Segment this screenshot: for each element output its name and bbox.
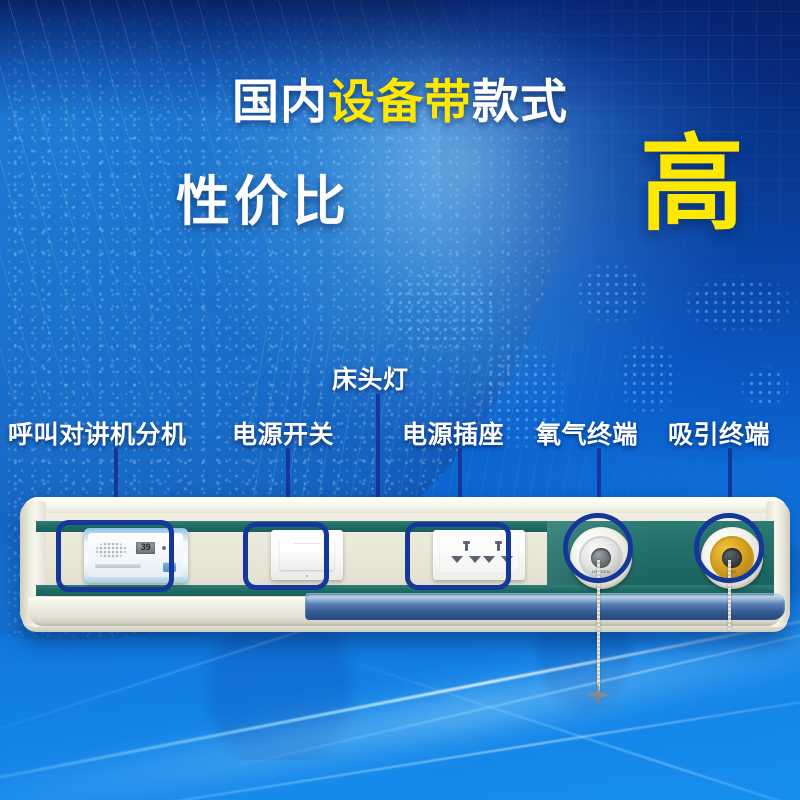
terminal-port-icon <box>591 548 611 568</box>
headline-emphasis: 高 <box>640 133 744 237</box>
headline-part-2: 设备带 <box>328 75 472 128</box>
led-indicator-icon <box>162 546 166 550</box>
suction-terminal[interactable]: VAC <box>701 527 763 589</box>
power-socket-plate[interactable] <box>433 530 525 580</box>
rocker-switch-icon[interactable] <box>280 539 334 570</box>
oxygen-pull-cord[interactable] <box>597 560 600 698</box>
terminal-text: VAC <box>710 569 754 574</box>
panel-top-bevel <box>22 497 788 513</box>
socket-outlet-icon[interactable] <box>483 543 513 569</box>
socket-pin-top <box>497 543 500 551</box>
suction-terminal-face: VAC <box>710 536 754 580</box>
callout-label-power-switch: 电源开关 <box>232 415 334 451</box>
nurse-call-intercom-unit[interactable]: 39 <box>84 528 188 583</box>
headline-part-3: 款式 <box>472 75 568 128</box>
socket-pin-right <box>501 556 513 563</box>
switch-screw <box>306 575 308 577</box>
intercom-display: 39 <box>136 542 155 554</box>
socket-pin-left <box>451 556 463 563</box>
headline-line-2: 性价比 高 <box>0 151 800 241</box>
medical-bed-head-unit: 39 OXYGEN <box>22 497 788 632</box>
socket-pin-left <box>483 556 495 563</box>
socket-faceplate <box>439 535 519 573</box>
call-button-icon[interactable] <box>163 562 176 572</box>
socket-pin-right <box>469 556 481 563</box>
suction-pull-cord[interactable] <box>728 560 731 630</box>
intercom-vent-slot <box>95 564 141 568</box>
headline-line-1: 国内设备带款式 <box>0 78 800 125</box>
oxygen-terminal[interactable]: OXYGEN <box>570 527 632 589</box>
intercom-faceplate: 39 <box>88 533 183 577</box>
callout-label-oxygen: 氧气终端 <box>536 415 638 451</box>
oxygen-terminal-face: OXYGEN <box>579 536 623 580</box>
headline-part-1: 国内 <box>232 75 328 128</box>
diffuser-gloss <box>307 595 783 604</box>
power-switch-plate[interactable] <box>271 530 343 580</box>
terminal-text: OXYGEN <box>579 569 623 574</box>
callout-label-bed-lamp: 床头灯 <box>332 360 409 396</box>
headline-block: 国内设备带款式 性价比 高 <box>0 78 800 241</box>
callout-label-power-socket: 电源插座 <box>402 415 504 451</box>
socket-pin-top <box>465 543 468 551</box>
terminal-port-icon <box>722 548 742 568</box>
callout-label-intercom: 呼叫对讲机分机 <box>8 415 187 451</box>
speaker-grill-icon <box>95 542 127 558</box>
socket-outlet-icon[interactable] <box>451 543 481 569</box>
callout-label-suction: 吸引终端 <box>668 415 770 451</box>
headline-subtitle: 性价比 <box>176 157 350 236</box>
bed-lamp-diffuser <box>305 593 785 620</box>
